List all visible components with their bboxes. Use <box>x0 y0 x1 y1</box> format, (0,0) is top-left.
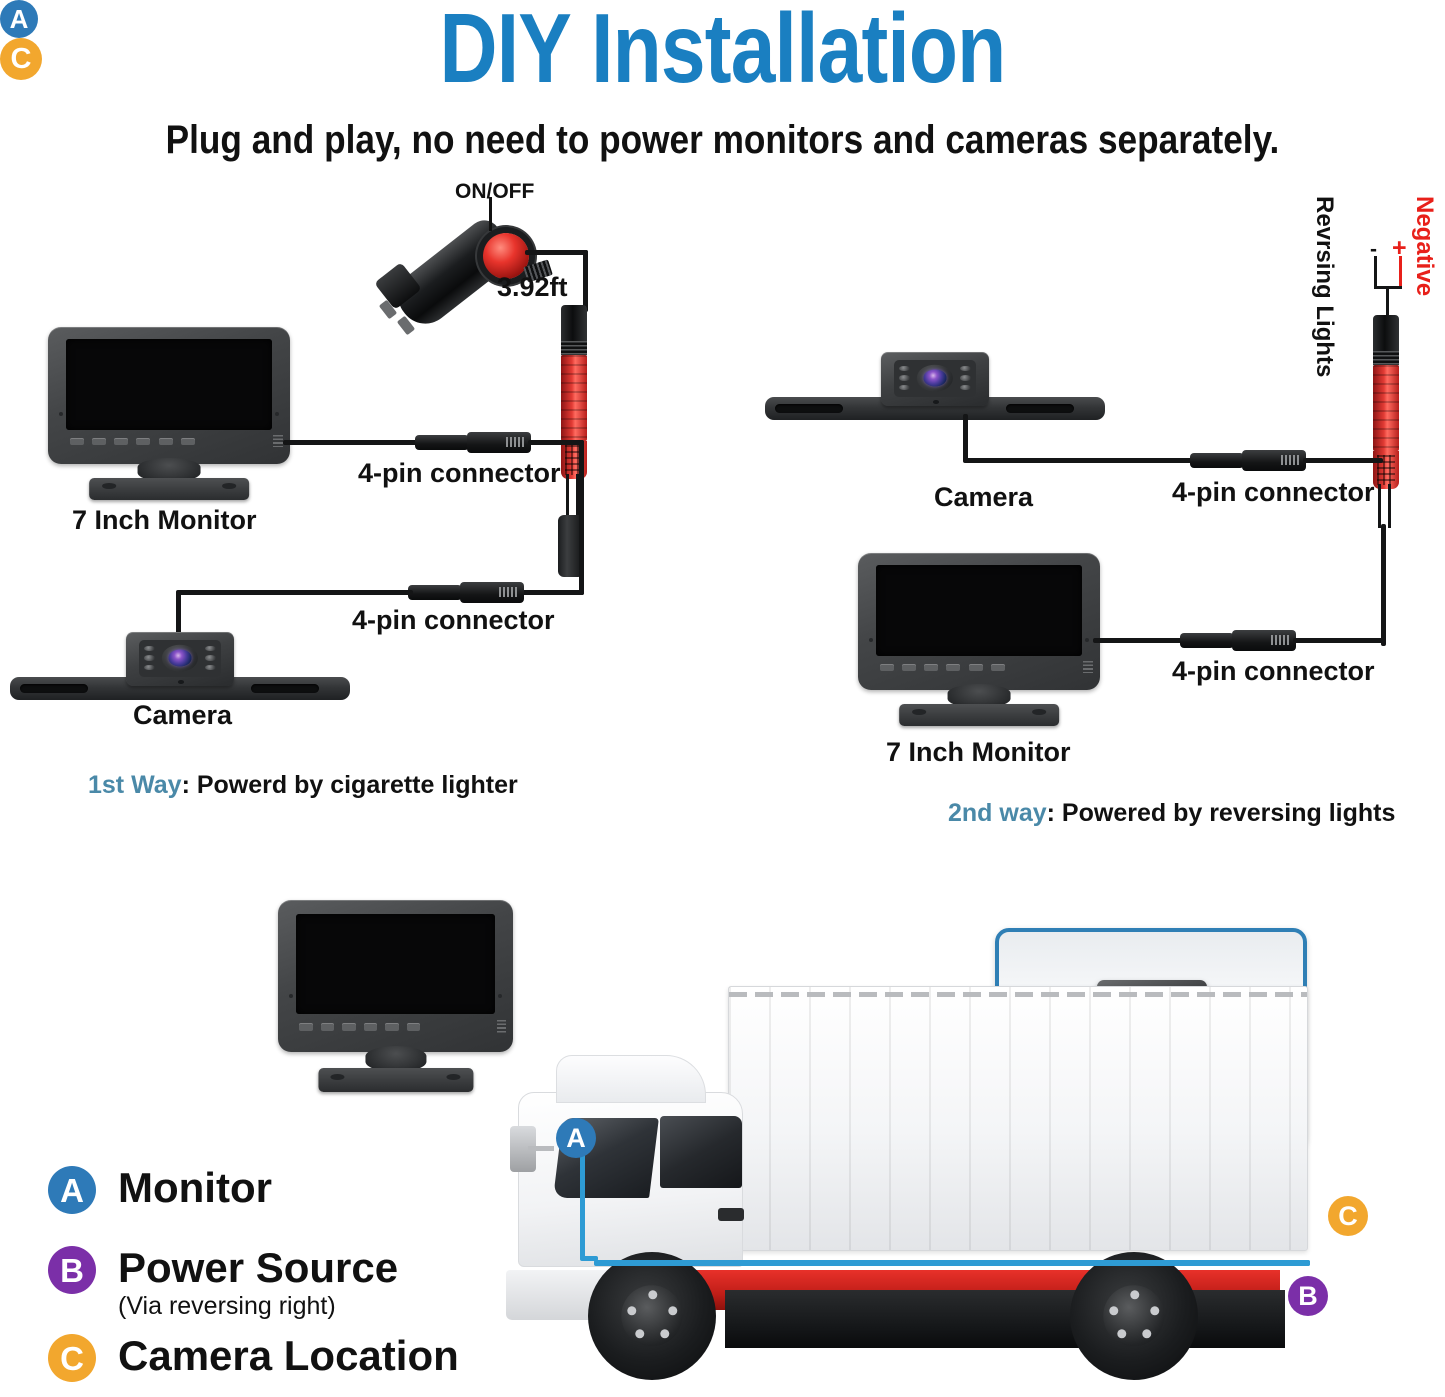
fork-wire-negative <box>1374 256 1377 288</box>
cable-length-label: 3.92ft <box>497 272 568 303</box>
caption-way2: 2nd way: Powered by reversing lights <box>948 799 1395 828</box>
connector-4pin-top-label: 4-pin connector <box>358 458 561 489</box>
legend-label-power-source: Power Source <box>118 1246 398 1290</box>
cable-monitor-out-2 <box>1093 638 1185 643</box>
badge-a-monitor: A <box>0 0 38 38</box>
cable-connector-to-drop-2 <box>1303 458 1383 463</box>
page-subtitle: Plug and play, no need to power monitors… <box>87 118 1359 163</box>
badge-a-truck: A <box>556 1118 596 1158</box>
truck-door-handle <box>718 1208 744 1221</box>
legend-badge-a: A <box>48 1166 96 1214</box>
onoff-label: ON/OFF <box>455 180 534 204</box>
connector-4pin-top <box>415 431 533 453</box>
truck-rear-wheel <box>1070 1252 1198 1380</box>
connector-4pin-bottom-label: 4-pin connector <box>352 605 555 636</box>
monitor-label-way2: 7 Inch Monitor <box>886 737 1071 768</box>
cable-monitor-out <box>283 440 423 445</box>
camera-way1 <box>10 632 350 700</box>
legend-label-monitor: Monitor <box>118 1166 272 1210</box>
page-title: DIY Installation <box>130 0 1315 102</box>
truck-illustration: A C B <box>470 940 1445 1397</box>
caption-way1-accent: 1st Way <box>88 771 182 799</box>
monitor-7inch-way2 <box>858 553 1100 733</box>
cable-camera-run-2 <box>963 458 1195 463</box>
monitor-7inch-way1 <box>48 327 290 507</box>
truck-underbody <box>725 1290 1285 1348</box>
cable-connector-bottom-run-2 <box>1293 638 1385 643</box>
truck-cargo-box <box>728 986 1308 1251</box>
cable-route-chassis <box>594 1260 1310 1266</box>
legend-badge-c: C <box>48 1334 96 1382</box>
negative-label: Negative <box>1410 196 1438 296</box>
badge-c-inset: C <box>0 38 42 80</box>
connector-4pin-bottom <box>408 581 526 603</box>
legend-item-power-source: B Power Source (Via reversing right) <box>48 1246 398 1321</box>
camera-label-way2: Camera <box>934 482 1033 513</box>
connector-4pin-bottom-2 <box>1180 629 1298 651</box>
legend-label-camera-location: Camera Location <box>118 1334 459 1378</box>
badge-b-truck: B <box>1288 1276 1328 1316</box>
camera-module-2 <box>881 352 990 406</box>
camera-way2 <box>765 352 1105 420</box>
connector-4pin-top-label-2: 4-pin connector <box>1172 477 1375 508</box>
cable-plug-to-connector <box>525 250 588 255</box>
cable-lower-run-left <box>178 590 413 595</box>
cable-route-rear <box>1250 1260 1310 1266</box>
legend-sublabel-power-source: (Via reversing right) <box>118 1292 398 1321</box>
cable-camera-drop-2 <box>963 414 968 462</box>
legend-item-monitor: A Monitor <box>48 1166 272 1214</box>
truck-roof-deflector <box>556 1055 706 1103</box>
monitor-label-way1: 7 Inch Monitor <box>72 505 257 536</box>
caption-way2-accent: 2nd way <box>948 799 1047 827</box>
cable-drop-2 <box>579 440 584 595</box>
twin-wire-left-2 <box>1378 484 1381 528</box>
badge-c-truck: C <box>1328 1196 1368 1236</box>
cable-drop-3 <box>1381 524 1386 646</box>
caption-way1-rest: : Powerd by cigarette lighter <box>182 771 518 799</box>
truck-door-window <box>660 1116 742 1188</box>
truck-front-wheel <box>588 1252 716 1380</box>
camera-lens-icon <box>169 650 192 667</box>
camera-label-way1: Camera <box>133 700 232 731</box>
fork-wire-positive <box>1399 256 1402 288</box>
caption-way1: 1st Way: Powerd by cigarette lighter <box>88 771 518 800</box>
twin-wire-left-1 <box>566 474 569 520</box>
twin-wire-right-2 <box>1388 484 1391 528</box>
reversing-lights-label: Revrsing Lights <box>1310 196 1338 377</box>
camera-lens-icon-2 <box>924 370 947 387</box>
cable-drop-1 <box>583 250 588 312</box>
caption-way2-rest: : Powered by reversing lights <box>1047 799 1396 827</box>
connector-4pin-bottom-label-2: 4-pin connector <box>1172 656 1375 687</box>
connector-4pin-top-2 <box>1190 449 1308 471</box>
legend-badge-b: B <box>48 1246 96 1294</box>
legend-item-camera-location: C Camera Location <box>48 1334 459 1382</box>
camera-module-1 <box>126 632 235 686</box>
cable-connector-to-drop <box>528 440 584 445</box>
